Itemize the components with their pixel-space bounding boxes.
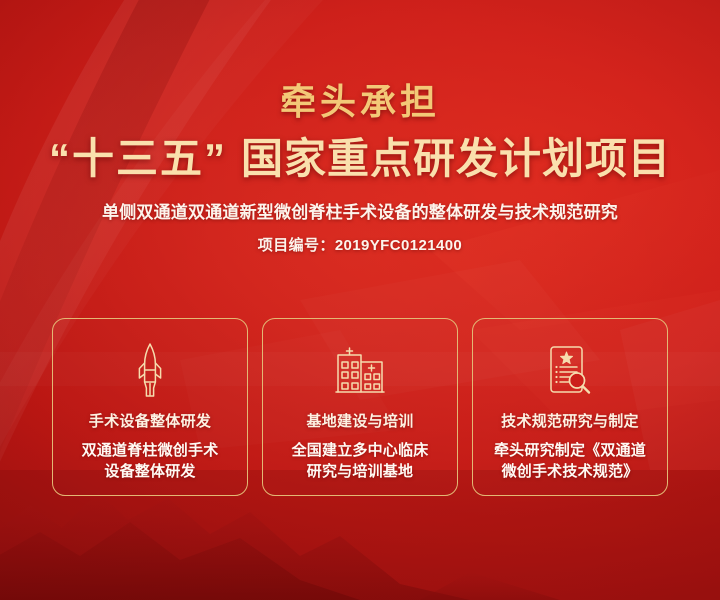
- card-body-line-2: 设备整体研发: [104, 463, 195, 480]
- feature-card-equipment-rnd[interactable]: 手术设备整体研发 双通道脊柱微创手术设备整体研发: [52, 318, 248, 496]
- card-body-line-1: 全国建立多中心临床: [292, 442, 429, 459]
- card-body-line-1: 双通道脊柱微创手术: [82, 442, 219, 459]
- card-body-line-2: 微创手术技术规范》: [502, 463, 639, 480]
- poster-banner: 牵头承担 “十三五”国家重点研发计划项目 单侧双通道双通道新型微创脊柱手术设备的…: [0, 0, 720, 600]
- title-main-term: 国家重点研发计划项目: [241, 135, 671, 182]
- project-number-label: 项目编号：: [258, 237, 335, 254]
- document-search-icon: [546, 341, 594, 399]
- card-body-line-1: 牵头研究制定《双通道: [494, 442, 646, 459]
- hospital-building-icon: [335, 341, 385, 399]
- header: 牵头承担 “十三五”国家重点研发计划项目 单侧双通道双通道新型微创脊柱手术设备的…: [0, 0, 720, 255]
- title-quoted-term: “十三五”: [49, 135, 227, 182]
- feature-card-list: 手术设备整体研发 双通道脊柱微创手术设备整体研发: [52, 318, 668, 496]
- feature-card-base-training[interactable]: 基地建设与培训 全国建立多中心临床研究与培训基地: [262, 318, 458, 496]
- card-body-text: 全国建立多中心临床研究与培训基地: [292, 431, 429, 483]
- card-heading: 技术规范研究与制定: [501, 399, 639, 431]
- feature-card-technical-standards[interactable]: 技术规范研究与制定 牵头研究制定《双通道微创手术技术规范》: [472, 318, 668, 496]
- card-heading: 基地建设与培训: [306, 399, 413, 431]
- card-body-text: 双通道脊柱微创手术设备整体研发: [82, 431, 219, 483]
- project-number-value: 2019YFC0121400: [335, 237, 462, 254]
- card-heading: 手术设备整体研发: [89, 399, 211, 431]
- rocket-icon: [133, 341, 167, 399]
- project-subtitle: 单侧双通道双通道新型微创脊柱手术设备的整体研发与技术规范研究: [0, 181, 720, 223]
- title-line-1: 牵头承担: [0, 0, 720, 120]
- card-body-text: 牵头研究制定《双通道微创手术技术规范》: [494, 431, 646, 483]
- title-line-2: “十三五”国家重点研发计划项目: [0, 120, 720, 181]
- card-body-line-2: 研究与培训基地: [307, 463, 413, 480]
- project-number: 项目编号：2019YFC0121400: [0, 224, 720, 255]
